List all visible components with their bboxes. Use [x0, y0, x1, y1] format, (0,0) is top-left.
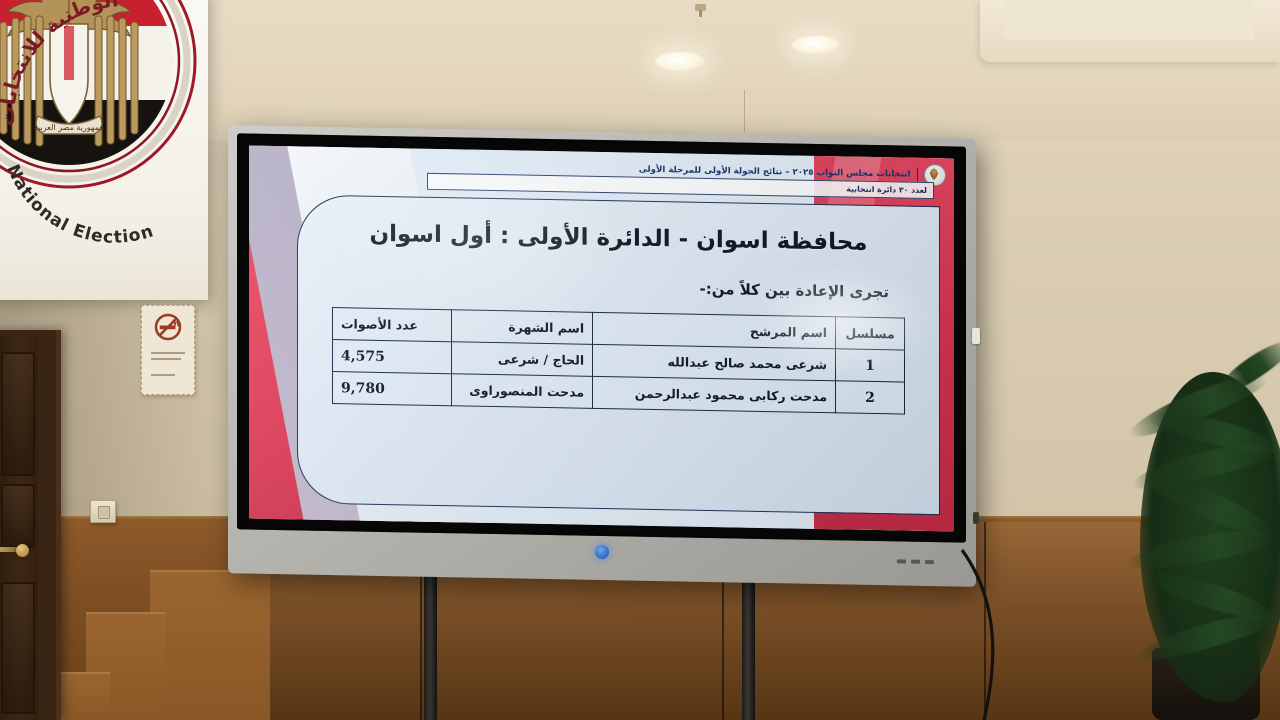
monitor-screen-frame: انتخابات مجلس النواب ٢٠٢٥ – نتائج الجولة…	[237, 133, 966, 542]
door-handle-icon[interactable]	[16, 544, 29, 557]
column-header-votes: عدد الأصوات	[333, 308, 452, 342]
monitor-stand-leg-left	[424, 560, 437, 720]
no-smoking-text-line	[151, 358, 181, 360]
cell-votes: 4,575	[333, 340, 452, 374]
cell-nickname: الحاج / شرعى	[452, 342, 593, 377]
nea-logo: جمهورية مصر العربية	[0, 0, 200, 192]
ceiling-seam	[744, 90, 745, 132]
ceiling-downlight-left	[655, 52, 705, 71]
indicator-mark	[897, 559, 906, 563]
no-smoking-text-line	[151, 374, 175, 376]
cell-seq: 2	[836, 381, 905, 414]
display-monitor[interactable]: انتخابات مجلس النواب ٢٠٢٥ – نتائج الجولة…	[228, 132, 976, 580]
ceiling-downlight-right	[792, 36, 840, 54]
light-switch[interactable]	[90, 500, 116, 523]
column-header-nickname: اسم الشهرة	[452, 310, 593, 345]
cell-votes: 9,780	[333, 372, 452, 406]
column-header-candidate: اسم المرشح	[593, 312, 836, 348]
status-indicators	[897, 559, 934, 564]
cell-seq: 1	[836, 349, 905, 382]
nea-banner: جمهورية مصر العربية الهيئة الوطنية للانت…	[0, 0, 208, 300]
indicator-mark	[925, 560, 934, 564]
screen[interactable]: انتخابات مجلس النواب ٢٠٢٥ – نتائج الجولة…	[249, 146, 954, 532]
no-smoking-text-line	[151, 352, 185, 354]
monitor-stand-leg-right	[742, 562, 755, 720]
monitor-side-button[interactable]	[972, 328, 980, 344]
door-upper-panel	[1, 352, 35, 476]
slide-subtitle: تجرى الإعادة بين كلاً من:-	[326, 273, 889, 301]
results-table: مسلسل اسم المرشح اسم الشهرة عدد الأصوات …	[332, 307, 905, 415]
slide-content-card: محافظة اسوان - الدائرة الأولى : أول اسوا…	[297, 194, 940, 515]
slide-header-line2: لعدد ٣٠ دائرة انتخابية	[846, 184, 927, 194]
header-divider	[917, 167, 919, 182]
presentation-slide: انتخابات مجلس النواب ٢٠٢٥ – نتائج الجولة…	[249, 146, 954, 532]
slide-title: محافظة اسوان - الدائرة الأولى : أول اسوا…	[326, 218, 911, 260]
no-smoking-icon	[153, 312, 183, 342]
ceiling-soffit	[980, 0, 1280, 62]
monitor-side-port[interactable]	[973, 512, 979, 524]
wood-step-upper	[150, 570, 270, 720]
power-led-icon[interactable]	[595, 545, 609, 559]
door-mid-panel	[1, 484, 35, 548]
room-scene: جمهورية مصر العربية الهيئة الوطنية للانت…	[0, 0, 1280, 720]
ceiling-soffit-inner	[1004, 0, 1254, 40]
door[interactable]	[0, 330, 61, 720]
cell-nickname: مدحت المنصوراوى	[452, 374, 593, 409]
wood-step-base	[60, 672, 110, 720]
cell-candidate: شرعى محمد صالح عبدالله	[593, 344, 836, 380]
emblem-motto: جمهورية مصر العربية	[34, 123, 104, 132]
cell-candidate: مدحت ركابى محمود عبدالرحمن	[593, 376, 836, 412]
door-leaf	[0, 336, 38, 720]
door-lower-panel	[1, 582, 35, 714]
no-smoking-sign	[141, 305, 195, 395]
indicator-mark	[911, 560, 920, 564]
power-cable	[940, 550, 1030, 720]
ceiling-sprinkler	[695, 4, 706, 11]
column-header-seq: مسلسل	[836, 317, 905, 350]
